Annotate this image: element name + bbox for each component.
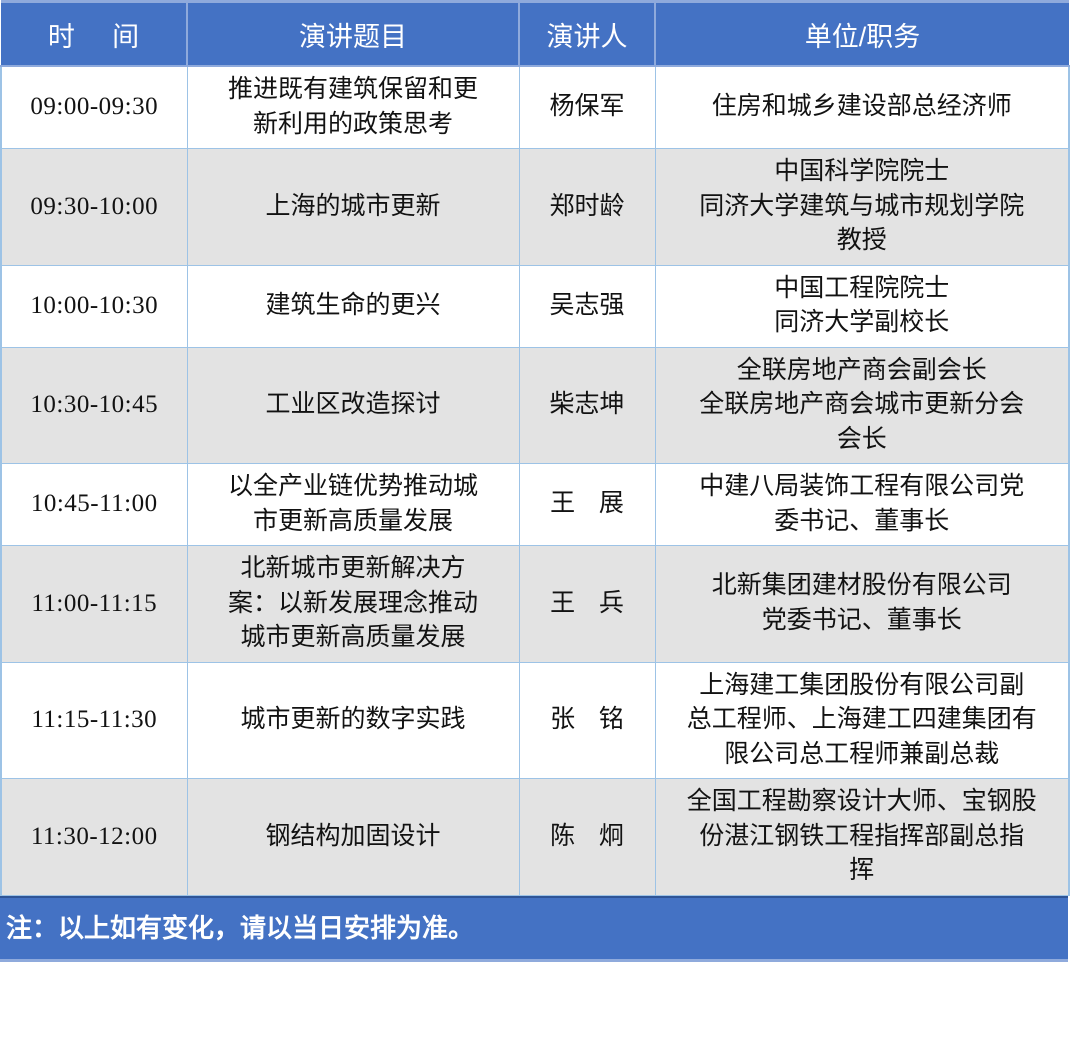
cell-title-line: 工业区改造探讨 xyxy=(194,388,513,423)
cell-org-line: 住房和城乡建设部总经济师 xyxy=(662,90,1063,125)
cell-title: 城市更新的数字实践 xyxy=(187,662,519,779)
table-header: 时 间 演讲题目 演讲人 单位/职务 xyxy=(1,2,1069,67)
cell-title: 工业区改造探讨 xyxy=(187,347,519,464)
cell-title: 北新城市更新解决方案：以新发展理念推动城市更新高质量发展 xyxy=(187,546,519,663)
cell-title-line: 市更新高质量发展 xyxy=(194,505,513,540)
cell-org: 中建八局装饰工程有限公司党委书记、董事长 xyxy=(655,464,1069,546)
cell-title-line: 钢结构加固设计 xyxy=(194,820,513,855)
cell-speaker: 杨保军 xyxy=(519,66,655,149)
cell-org-line: 委书记、董事长 xyxy=(662,505,1063,540)
cell-org: 北新集团建材股份有限公司党委书记、董事长 xyxy=(655,546,1069,663)
cell-time: 09:30-10:00 xyxy=(1,149,187,266)
table-body: 09:00-09:30推进既有建筑保留和更新利用的政策思考杨保军住房和城乡建设部… xyxy=(1,66,1069,895)
cell-title: 钢结构加固设计 xyxy=(187,779,519,896)
cell-org-line: 限公司总工程师兼副总裁 xyxy=(662,738,1063,773)
cell-speaker: 吴志强 xyxy=(519,265,655,347)
cell-org-line: 全联房地产商会副会长 xyxy=(662,354,1063,389)
column-header-org: 单位/职务 xyxy=(655,2,1069,67)
cell-speaker: 陈炯 xyxy=(519,779,655,896)
cell-title-line: 城市更新的数字实践 xyxy=(194,703,513,738)
cell-title: 推进既有建筑保留和更新利用的政策思考 xyxy=(187,66,519,149)
cell-title-line: 北新城市更新解决方 xyxy=(194,552,513,587)
cell-org: 住房和城乡建设部总经济师 xyxy=(655,66,1069,149)
cell-title: 以全产业链优势推动城市更新高质量发展 xyxy=(187,464,519,546)
cell-org-line: 全联房地产商会城市更新分会 xyxy=(662,388,1063,423)
cell-org: 全国工程勘察设计大师、宝钢股份湛江钢铁工程指挥部副总指挥 xyxy=(655,779,1069,896)
table-row: 09:30-10:00上海的城市更新郑时龄中国科学院院士同济大学建筑与城市规划学… xyxy=(1,149,1069,266)
cell-org-line: 北新集团建材股份有限公司 xyxy=(662,569,1063,604)
cell-org-line: 同济大学副校长 xyxy=(662,306,1063,341)
cell-org-line: 中建八局装饰工程有限公司党 xyxy=(662,470,1063,505)
cell-org-line: 教授 xyxy=(662,224,1063,259)
cell-org: 全联房地产商会副会长全联房地产商会城市更新分会会长 xyxy=(655,347,1069,464)
cell-speaker: 张铭 xyxy=(519,662,655,779)
table-row: 10:00-10:30建筑生命的更兴吴志强中国工程院院士同济大学副校长 xyxy=(1,265,1069,347)
cell-title-line: 新利用的政策思考 xyxy=(194,108,513,143)
cell-title-line: 以全产业链优势推动城 xyxy=(194,470,513,505)
cell-speaker: 王兵 xyxy=(519,546,655,663)
column-header-time: 时 间 xyxy=(1,2,187,67)
table-row: 11:30-12:00钢结构加固设计陈炯全国工程勘察设计大师、宝钢股份湛江钢铁工… xyxy=(1,779,1069,896)
agenda-table: 时 间 演讲题目 演讲人 单位/职务 09:00-09:30推进既有建筑保留和更… xyxy=(0,0,1070,896)
cell-time: 09:00-09:30 xyxy=(1,66,187,149)
table-row: 11:15-11:30城市更新的数字实践张铭上海建工集团股份有限公司副总工程师、… xyxy=(1,662,1069,779)
cell-title-line: 建筑生命的更兴 xyxy=(194,289,513,324)
cell-title-line: 推进既有建筑保留和更 xyxy=(194,73,513,108)
cell-org-line: 份湛江钢铁工程指挥部副总指 xyxy=(662,820,1063,855)
cell-org-line: 党委书记、董事长 xyxy=(662,604,1063,639)
footnote-text: 注：以上如有变化，请以当日安排为准。 xyxy=(6,915,474,941)
cell-title-line: 案：以新发展理念推动 xyxy=(194,587,513,622)
cell-time: 10:30-10:45 xyxy=(1,347,187,464)
schedule-container: 时 间 演讲题目 演讲人 单位/职务 09:00-09:30推进既有建筑保留和更… xyxy=(0,0,1080,1059)
table-row: 10:45-11:00以全产业链优势推动城市更新高质量发展王展中建八局装饰工程有… xyxy=(1,464,1069,546)
cell-org: 中国工程院院士同济大学副校长 xyxy=(655,265,1069,347)
cell-title: 上海的城市更新 xyxy=(187,149,519,266)
cell-time: 11:15-11:30 xyxy=(1,662,187,779)
cell-time: 10:00-10:30 xyxy=(1,265,187,347)
cell-speaker: 王展 xyxy=(519,464,655,546)
cell-time: 11:00-11:15 xyxy=(1,546,187,663)
cell-org-line: 会长 xyxy=(662,423,1063,458)
cell-time: 10:45-11:00 xyxy=(1,464,187,546)
cell-org-line: 中国工程院院士 xyxy=(662,272,1063,307)
cell-time: 11:30-12:00 xyxy=(1,779,187,896)
cell-speaker: 郑时龄 xyxy=(519,149,655,266)
header-row: 时 间 演讲题目 演讲人 单位/职务 xyxy=(1,2,1069,67)
cell-org-line: 上海建工集团股份有限公司副 xyxy=(662,669,1063,704)
cell-title-line: 城市更新高质量发展 xyxy=(194,621,513,656)
cell-title: 建筑生命的更兴 xyxy=(187,265,519,347)
cell-org-line: 总工程师、上海建工四建集团有 xyxy=(662,703,1063,738)
cell-org-line: 中国科学院院士 xyxy=(662,155,1063,190)
cell-org: 中国科学院院士同济大学建筑与城市规划学院教授 xyxy=(655,149,1069,266)
cell-org-line: 同济大学建筑与城市规划学院 xyxy=(662,190,1063,225)
cell-org-line: 全国工程勘察设计大师、宝钢股 xyxy=(662,785,1063,820)
table-row: 11:00-11:15北新城市更新解决方案：以新发展理念推动城市更新高质量发展王… xyxy=(1,546,1069,663)
cell-title-line: 上海的城市更新 xyxy=(194,190,513,225)
table-row: 10:30-10:45工业区改造探讨柴志坤全联房地产商会副会长全联房地产商会城市… xyxy=(1,347,1069,464)
cell-speaker: 柴志坤 xyxy=(519,347,655,464)
column-header-speaker: 演讲人 xyxy=(519,2,655,67)
footnote-bar: 注：以上如有变化，请以当日安排为准。 xyxy=(0,896,1068,962)
table-row: 09:00-09:30推进既有建筑保留和更新利用的政策思考杨保军住房和城乡建设部… xyxy=(1,66,1069,149)
column-header-title: 演讲题目 xyxy=(187,2,519,67)
cell-org-line: 挥 xyxy=(662,854,1063,889)
cell-org: 上海建工集团股份有限公司副总工程师、上海建工四建集团有限公司总工程师兼副总裁 xyxy=(655,662,1069,779)
